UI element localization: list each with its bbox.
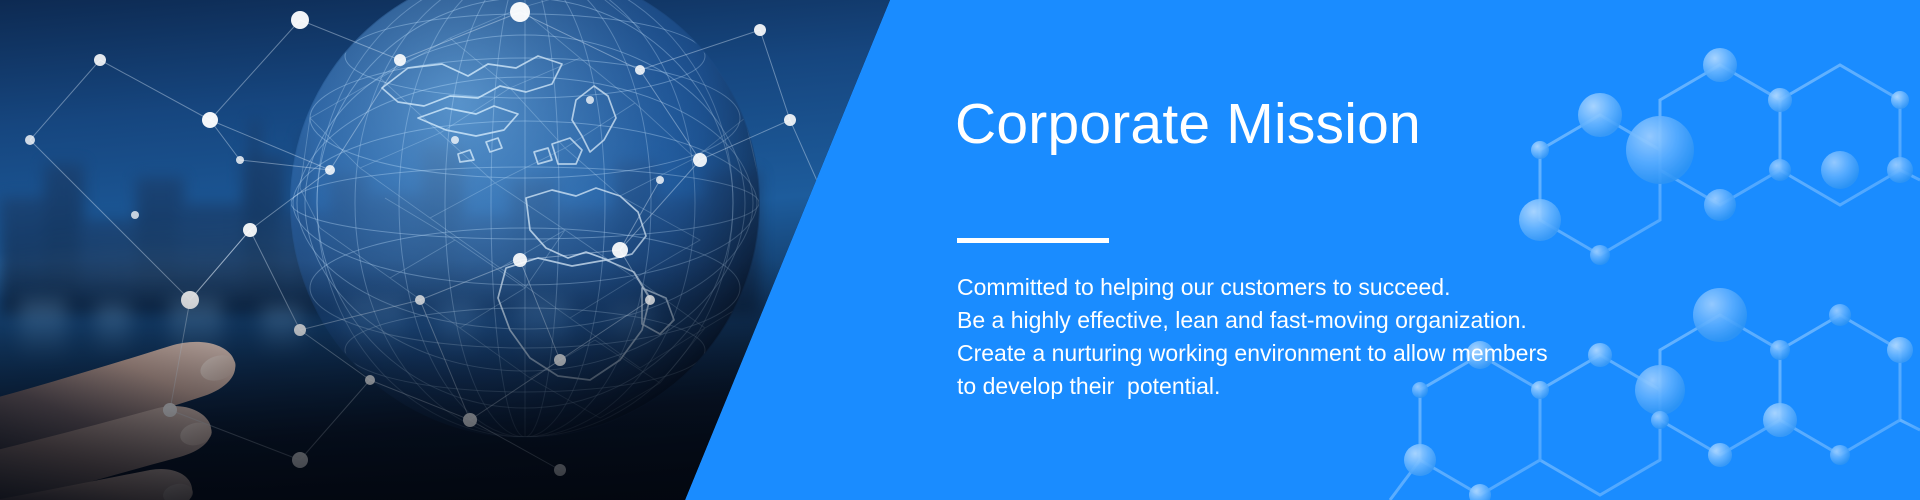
mission-content: Corporate Mission Committed to helping o… <box>955 0 1715 500</box>
mission-statement-line: Create a nurturing working environment t… <box>957 337 1697 370</box>
mission-statement-line: Be a highly effective, lean and fast-mov… <box>957 304 1697 337</box>
mission-statement-line: to develop their potential. <box>957 370 1697 403</box>
mission-statement-list: Committed to helping our customers to su… <box>957 271 1697 403</box>
corporate-mission-banner: Corporate Mission Committed to helping o… <box>0 0 1920 500</box>
title-divider <box>957 238 1109 243</box>
page-title: Corporate Mission <box>955 95 1421 155</box>
mission-statement-line: Committed to helping our customers to su… <box>957 271 1697 304</box>
